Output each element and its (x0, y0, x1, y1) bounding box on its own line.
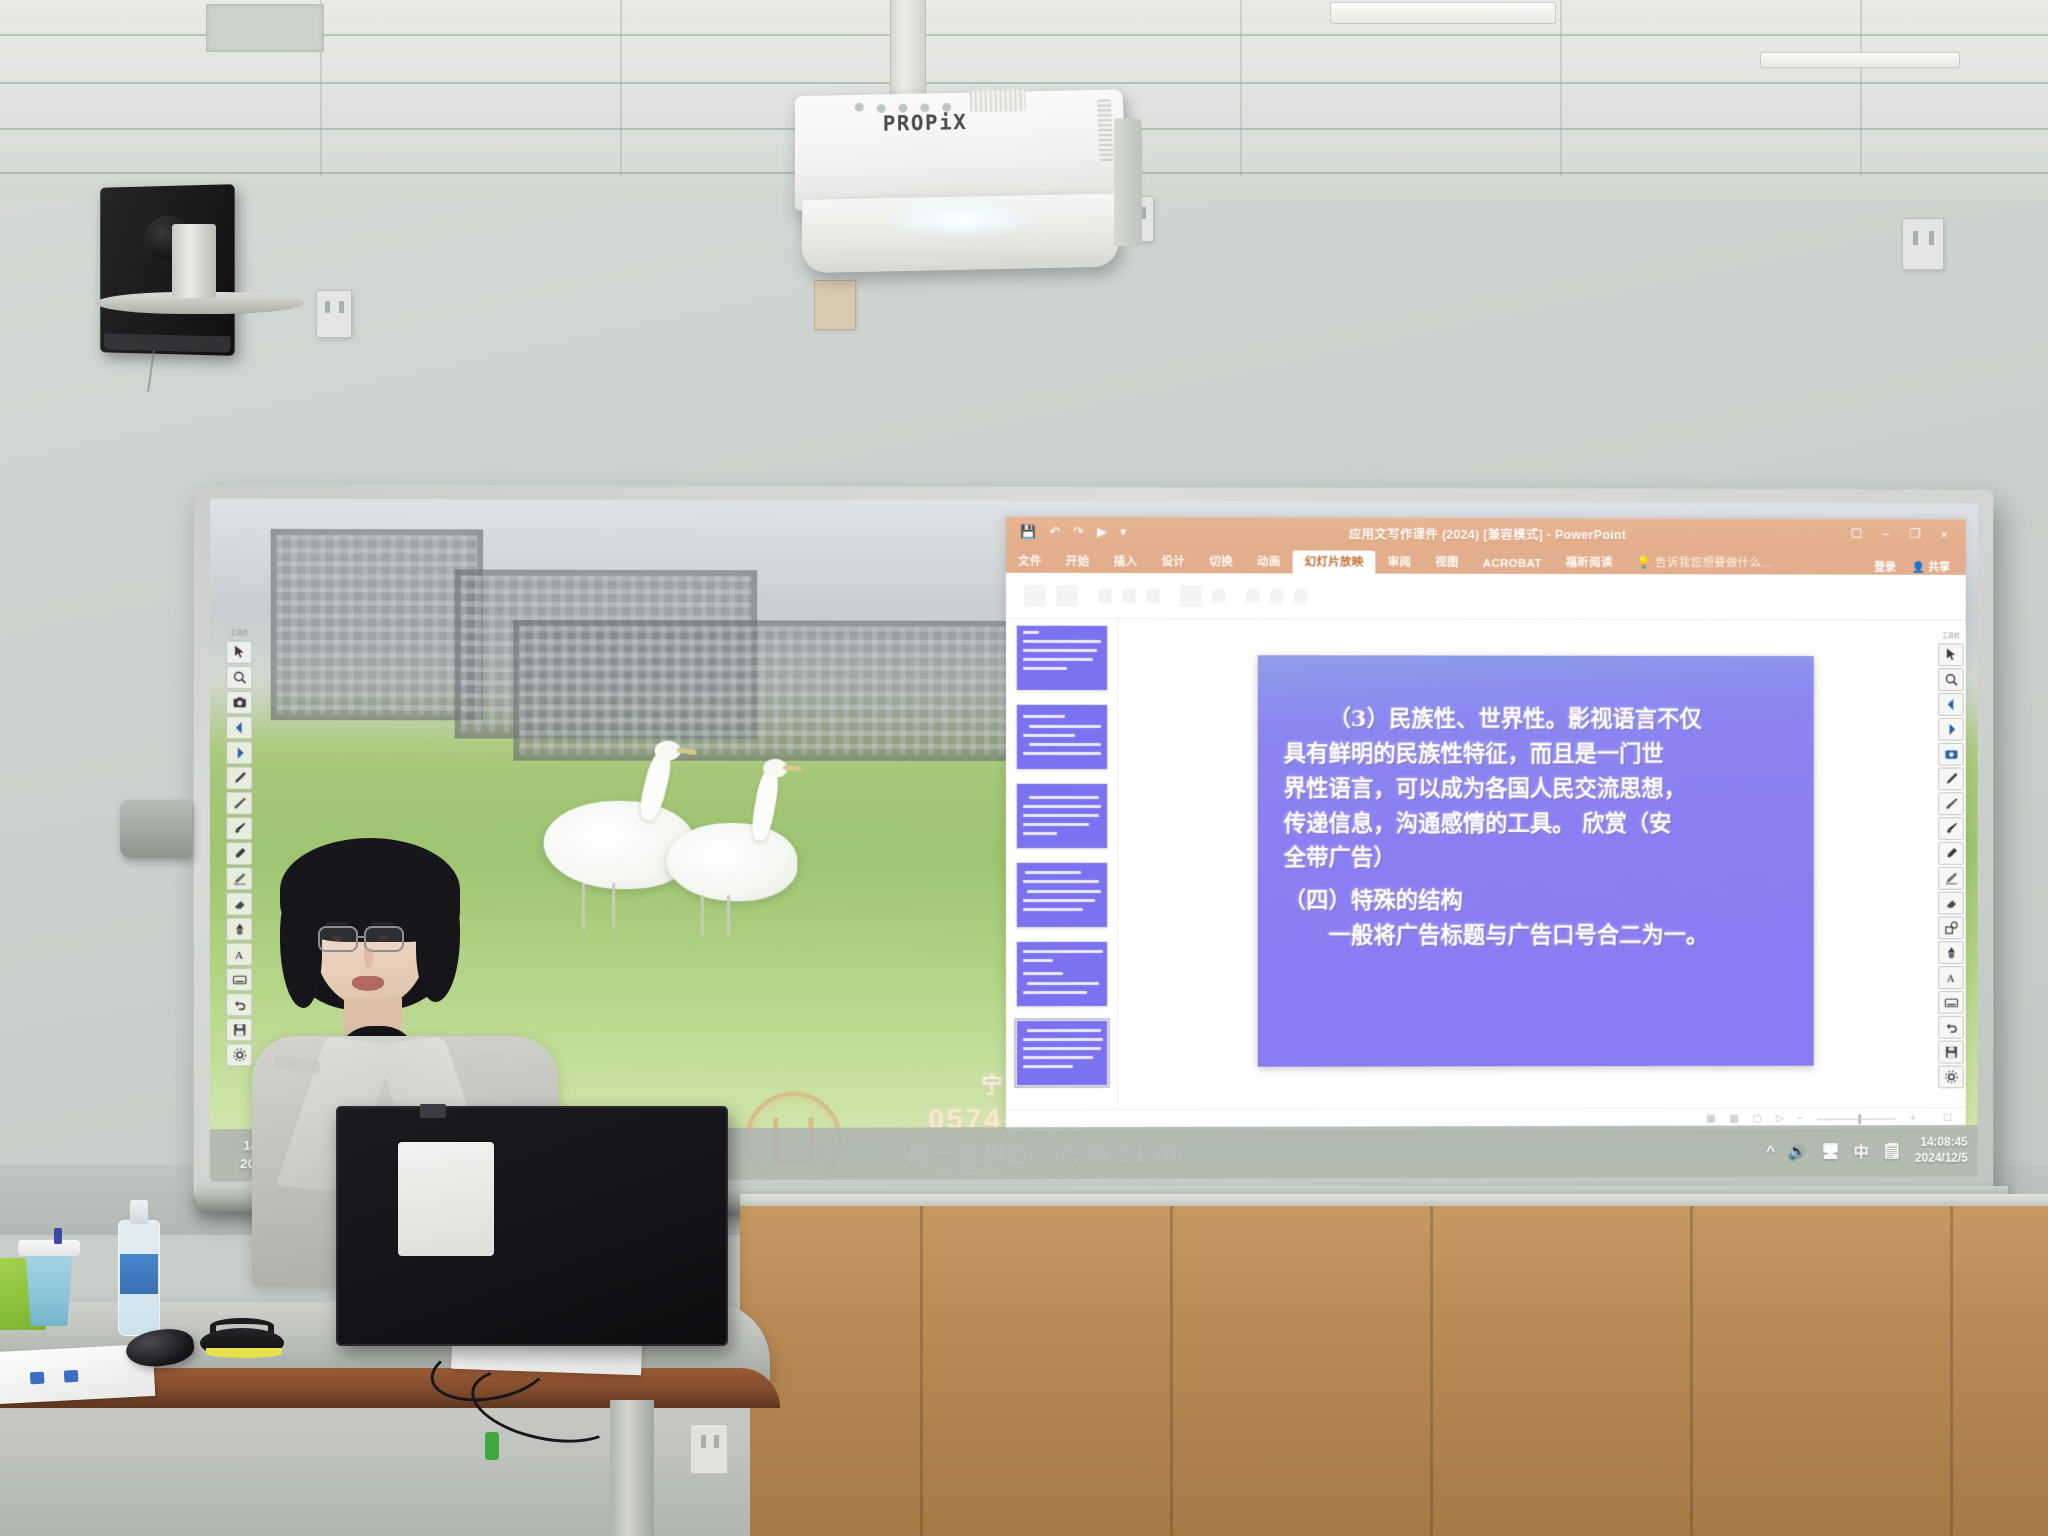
gear-icon (1944, 1069, 1959, 1084)
eraser-tool[interactable] (226, 892, 252, 915)
powerpoint-main-area[interactable]: 1 2 (1006, 619, 1966, 1109)
monitor-stand-neck (172, 224, 216, 298)
wainscot-trim (740, 1194, 2048, 1206)
highlighter-icon (232, 871, 247, 886)
projector-top-vent (970, 89, 1026, 112)
pencil-tool[interactable] (1938, 792, 1964, 815)
slide-line: 全带广告） (1284, 842, 1788, 875)
ribbon-command-icon[interactable] (1024, 584, 1046, 606)
restore-icon[interactable]: ❐ (1909, 526, 1921, 542)
cup-lid (18, 1240, 80, 1256)
arrow-right-icon (1944, 722, 1959, 737)
projector-body: PROPiX (795, 89, 1128, 210)
ribbon-command-icon[interactable] (1056, 584, 1078, 606)
save-tool[interactable] (226, 1018, 252, 1041)
monitor-back (336, 1106, 728, 1346)
slide-line: 一般将广告标题与广告口号合二为一。 (1284, 920, 1788, 953)
highlighter-tool[interactable] (226, 867, 252, 890)
gear-icon (232, 1047, 247, 1062)
arrow-right-icon (232, 745, 247, 760)
brush-icon (232, 821, 247, 836)
tab-foxit[interactable]: 福昕阅读 (1554, 551, 1625, 574)
ribbon-command-icon[interactable] (1246, 589, 1260, 603)
whiteboard-toolbar-right[interactable]: 工具栏 A (1938, 630, 1964, 1088)
text-a-icon: A (1944, 970, 1959, 985)
monitor-back-panel (398, 1142, 494, 1256)
ceiling-vent (206, 4, 324, 52)
tell-me-box[interactable]: 💡 告诉我您想要做什么... (1625, 551, 1784, 574)
magnifier-icon (232, 670, 247, 685)
coffee-cup (18, 1230, 80, 1326)
zoom-slider[interactable] (1817, 1118, 1896, 1120)
next-page-tool[interactable] (226, 741, 252, 764)
spotlight-icon (1944, 945, 1959, 960)
presenter-nose (364, 948, 373, 968)
floor-outlet (690, 1424, 728, 1474)
minimize-icon[interactable]: − (1882, 527, 1889, 542)
camera-icon (1944, 747, 1959, 762)
redo-icon[interactable]: ↷ (1073, 524, 1084, 540)
whiteboard-toolbar-left[interactable]: 工具栏 A (226, 628, 252, 1067)
pen-icon (1944, 771, 1959, 786)
tell-me-label: 告诉我您想要做什么... (1655, 554, 1772, 570)
toolbar-caption: 工具栏 (1938, 630, 1964, 639)
keyboard-tool[interactable] (226, 968, 252, 991)
presenter-glasses-bridge (358, 936, 366, 938)
wallpaper-building (271, 529, 483, 720)
save-icon (232, 1022, 247, 1037)
slide-line: 界性语言，可以成为各国人民交流思想， (1284, 773, 1788, 806)
fit-slide-icon[interactable]: ☐ (1943, 1113, 1952, 1124)
cursor-icon (1944, 647, 1959, 662)
slide-line: （3）民族性、世界性。影视语言不仅 (1284, 703, 1788, 736)
tab-design[interactable]: 设计 (1149, 550, 1197, 573)
tab-file[interactable]: 文件 (1006, 550, 1054, 573)
zoom-in-icon[interactable]: + (1910, 1113, 1916, 1124)
projector-side-bracket (1114, 119, 1142, 247)
monitor-logo (420, 1104, 446, 1118)
tab-animations[interactable]: 动画 (1245, 550, 1293, 573)
wallpaper-crane (667, 823, 798, 901)
tab-transitions[interactable]: 切换 (1197, 550, 1245, 573)
person-icon: 👤 (1912, 562, 1926, 574)
lightbulb-icon: 💡 (1637, 555, 1652, 569)
classroom-scene: PROPiX SunTone (0, 0, 2048, 1536)
spotlight-tool[interactable] (226, 918, 252, 941)
slide-thumbnail[interactable]: 5 (1016, 941, 1108, 1007)
zoom-tool[interactable] (1938, 668, 1964, 691)
brush-tool[interactable] (226, 817, 252, 840)
projector-buttons[interactable] (855, 100, 975, 120)
cursor-icon (232, 645, 247, 660)
shapes-tool[interactable] (1938, 916, 1964, 939)
headphone-accent (206, 1348, 282, 1358)
system-tray[interactable]: ^ 🔊 🖥 中 🗒 14:08:45 2024/12/5 (1766, 1127, 1967, 1175)
ribbon-command-icon[interactable] (1212, 589, 1226, 603)
tab-acrobat[interactable]: ACROBAT (1471, 555, 1554, 574)
save-tool[interactable] (1938, 1041, 1964, 1064)
slide-line: 传递信息，沟通感情的工具。 欣赏（安 (1284, 808, 1788, 841)
presenter-hair-side (280, 884, 322, 1008)
wood-wainscot (740, 1200, 2048, 1536)
spotlight-icon (232, 922, 247, 937)
volume-icon[interactable]: 🔊 (1789, 1142, 1807, 1160)
settings-tool[interactable] (1938, 1065, 1964, 1088)
ribbon-group[interactable] (1180, 585, 1226, 607)
close-icon[interactable]: × (1940, 527, 1947, 542)
zoom-out-icon[interactable]: − (1797, 1113, 1803, 1124)
share-label: 共享 (1928, 562, 1950, 574)
text-tool[interactable]: A (226, 943, 252, 966)
zoom-tool[interactable] (226, 666, 252, 689)
ribbon-command-icon[interactable] (1122, 589, 1136, 603)
prev-page-tool[interactable] (1938, 693, 1964, 716)
eraser-tool[interactable] (1938, 892, 1964, 915)
presenter-glasses (318, 926, 358, 952)
tray-clock[interactable]: 14:08:45 2024/12/5 (1915, 1135, 1968, 1166)
pen-tool[interactable] (226, 766, 252, 789)
keyboard-tool[interactable] (1938, 991, 1964, 1014)
bottle-cap (130, 1200, 148, 1224)
brush-icon (1944, 821, 1959, 836)
spotlight-tool[interactable] (1938, 941, 1964, 964)
svg-text:A: A (1946, 973, 1955, 985)
presenter-mouth (352, 976, 384, 991)
ribbon-display-options-icon[interactable]: ☐ (1851, 526, 1863, 542)
undo-icon (1944, 1020, 1959, 1035)
arrow-left-icon (1944, 697, 1959, 712)
chevron-up-icon[interactable]: ^ (1766, 1143, 1775, 1160)
view-reading-icon[interactable]: ▢ (1753, 1114, 1762, 1125)
pen-icon (232, 771, 247, 786)
slide-line: （四）特殊的结构 (1284, 885, 1788, 918)
action-center-icon[interactable]: 🗒 (1882, 1142, 1901, 1160)
view-sorter-icon[interactable]: ▩ (1729, 1114, 1738, 1125)
tab-slideshow[interactable]: 幻灯片放映 (1293, 550, 1376, 573)
undo-icon[interactable]: ↶ (1049, 524, 1060, 540)
wallpaper-building (513, 620, 1076, 761)
highlighter-tool[interactable] (1938, 867, 1964, 890)
powerpoint-title-bar[interactable]: 💾 ↶ ↷ ▶ ▾ 应用文写作课件 (2024) [兼容模式] - PowerP… (1006, 517, 1966, 549)
shapes-icon (1944, 920, 1959, 935)
undo-tool[interactable] (226, 993, 252, 1016)
presenter-eyebrow (326, 922, 348, 925)
settings-tool[interactable] (226, 1043, 252, 1066)
customize-qat-icon[interactable]: ▾ (1120, 524, 1127, 540)
eraser-icon (1944, 896, 1959, 911)
view-normal-icon[interactable]: ▦ (1706, 1114, 1715, 1125)
status-bar-right[interactable]: ▦ ▩ ▢ ▷ − + ☐ (1706, 1113, 1952, 1124)
headphones (200, 1314, 286, 1358)
ribbon-account-area[interactable]: 登录 👤 共享 (1874, 559, 1966, 575)
text-tool[interactable]: A (1938, 966, 1964, 989)
next-page-tool[interactable] (1938, 718, 1964, 741)
slide-thumbnail[interactable]: 4 (1016, 862, 1108, 928)
marker-icon (232, 846, 247, 861)
tab-view[interactable]: 视图 (1423, 551, 1471, 574)
marker-icon (1944, 846, 1959, 861)
zoom-slider-knob[interactable] (1858, 1114, 1861, 1124)
network-icon[interactable]: 🖥 (1821, 1142, 1840, 1160)
pen-tool[interactable] (1938, 768, 1964, 791)
window-title: 应用文写作课件 (2024) [兼容模式] - PowerPoint (1006, 522, 1966, 543)
slide-thumbnail-pane[interactable]: 1 2 (1006, 619, 1118, 1109)
cup-body (22, 1248, 76, 1326)
screenshot-tool[interactable] (1938, 743, 1964, 766)
cable-plug (485, 1432, 499, 1460)
slide-body-text[interactable]: （3）民族性、世界性。影视语言不仅 具有鲜明的民族性特征，而且是一门世 界性语言… (1284, 703, 1788, 953)
save-icon (1944, 1045, 1959, 1060)
ribbon-group[interactable] (1098, 588, 1160, 602)
marker-tool[interactable] (226, 842, 252, 865)
projector-side-vent (1097, 99, 1114, 161)
svg-text:A: A (235, 950, 244, 962)
tab-review[interactable]: 审阅 (1376, 551, 1424, 574)
keyboard-icon (232, 972, 247, 987)
desk-cables (430, 1330, 660, 1450)
view-slideshow-icon[interactable]: ▷ (1776, 1113, 1784, 1124)
slide-thumbnail[interactable]: 1 (1016, 625, 1108, 691)
tray-clock-time: 14:08:45 (1920, 1135, 1967, 1149)
ribbon-tab-strip[interactable]: 文件 开始 插入 设计 切换 动画 幻灯片放映 审阅 视图 ACROBAT 福昕… (1006, 547, 1966, 575)
cup-straw (54, 1228, 62, 1244)
keyboard-icon (1944, 995, 1959, 1010)
save-icon[interactable]: 💾 (1020, 524, 1036, 540)
quick-access-toolbar[interactable]: 💾 ↶ ↷ ▶ ▾ (1006, 524, 1127, 540)
sign-in-link[interactable]: 登录 (1874, 559, 1896, 575)
powerpoint-window[interactable]: 💾 ↶ ↷ ▶ ▾ 应用文写作课件 (2024) [兼容模式] - PowerP… (1006, 517, 1966, 1131)
slide-line: 具有鲜明的民族性特征，而且是一门世 (1284, 738, 1788, 771)
ribbon-command-icon[interactable] (1098, 588, 1112, 602)
ceiling-light-strip (1330, 2, 1556, 24)
slide-thumbnail-selected[interactable]: 6 (1016, 1020, 1108, 1086)
brush-tool[interactable] (1938, 817, 1964, 840)
projector-lens-glow (885, 200, 1035, 236)
text-a-icon: A (232, 947, 247, 962)
whiteboard-pen-tray[interactable] (120, 800, 192, 858)
wall-plate (814, 280, 856, 330)
ribbon-group[interactable] (1246, 589, 1308, 603)
tray-clock-date: 2024/12/5 (1915, 1151, 1968, 1165)
eraser-icon (232, 896, 247, 911)
presenter-hair-side (416, 882, 460, 1002)
ceiling-light-strip (1760, 52, 1960, 68)
ribbon-command-icon[interactable] (1180, 585, 1202, 607)
wall-socket (316, 290, 352, 338)
ribbon-command-area[interactable] (1006, 573, 1966, 621)
slide-thumbnail[interactable]: 3 (1016, 783, 1108, 849)
arrow-left-icon (232, 720, 247, 735)
desktop-monitor (336, 1106, 728, 1346)
ribbon-command-icon[interactable] (1146, 589, 1160, 603)
bottle-label (120, 1254, 158, 1294)
pencil-icon (1944, 796, 1959, 811)
current-slide[interactable]: （3）民族性、世界性。影视语言不仅 具有鲜明的民族性特征，而且是一门世 界性语言… (1258, 655, 1814, 1066)
ribbon-command-icon[interactable] (1294, 589, 1308, 603)
pencil-icon (232, 796, 247, 811)
slide-editing-area[interactable]: （3）民族性、世界性。影视语言不仅 具有鲜明的民族性特征，而且是一门世 界性语言… (1118, 619, 1966, 1109)
share-button[interactable]: 👤 共享 (1912, 559, 1950, 575)
pencil-tool[interactable] (226, 792, 252, 815)
water-bottle (118, 1196, 160, 1336)
tab-home[interactable]: 开始 (1054, 550, 1102, 573)
select-tool[interactable] (1938, 643, 1964, 666)
projector-mount-arm (890, 0, 926, 95)
presenter-eyebrow (372, 922, 394, 925)
marker-tool[interactable] (1938, 842, 1964, 865)
window-controls[interactable]: ☐ − ❐ × (1851, 526, 1966, 542)
select-tool[interactable] (226, 641, 252, 664)
highlighter-icon (1944, 871, 1959, 886)
slide-thumbnail[interactable]: 2 (1016, 704, 1108, 770)
ribbon-command-icon[interactable] (1270, 589, 1284, 603)
camera-icon (232, 695, 247, 710)
undo-icon (232, 997, 247, 1012)
start-presentation-icon[interactable]: ▶ (1097, 524, 1107, 540)
wallpaper-crane-neck (749, 768, 781, 843)
undo-tool[interactable] (1938, 1016, 1964, 1039)
speaker-grille (104, 334, 230, 353)
ribbon-group[interactable] (1024, 584, 1078, 606)
prev-page-tool[interactable] (226, 716, 252, 739)
toolbar-caption: 工具栏 (226, 628, 252, 637)
screenshot-tool[interactable] (226, 691, 252, 714)
magnifier-icon (1944, 672, 1959, 687)
wall-socket (1902, 218, 1944, 270)
ime-chinese-icon[interactable]: 中 (1854, 1141, 1869, 1162)
tab-insert[interactable]: 插入 (1102, 550, 1150, 573)
